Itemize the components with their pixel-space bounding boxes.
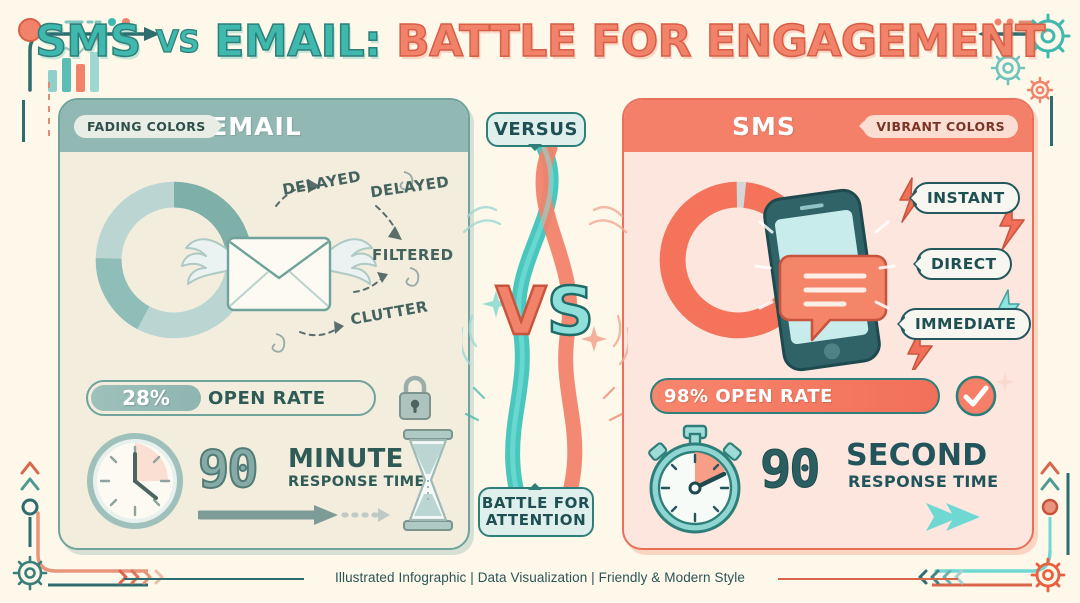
decor-dash-left <box>48 82 50 142</box>
vs-letter-v: V <box>496 273 547 350</box>
decor-line-right-top <box>1050 96 1053 146</box>
sms-panel-header: SMS VIBRANT COLORS <box>624 100 1032 152</box>
email-response-digits: 90 <box>198 440 257 500</box>
email-open-rate-bar: 28% OPEN RATE <box>86 380 376 416</box>
email-panel-header: FADING COLORS EMAIL <box>60 100 468 152</box>
email-slow-arrow <box>198 502 396 528</box>
sms-open-rate-percent: 98% <box>664 386 709 407</box>
battle-line-2: ATTENTION <box>480 512 592 529</box>
center-versus-column: VERSUS VS BATTLE FOR ATTENTION <box>478 98 612 558</box>
padlock-icon <box>394 374 436 422</box>
vs-letters: VS <box>478 273 612 350</box>
check-circle-icon <box>954 374 998 418</box>
email-open-rate-fill: 28% <box>91 385 201 411</box>
versus-bubble: VERSUS <box>486 112 586 147</box>
decor-line-left-top <box>22 100 25 142</box>
email-label-filtered: FILTERED <box>372 246 454 264</box>
battle-line-1: BATTLE FOR <box>480 495 592 512</box>
email-open-rate-percent: 28% <box>122 386 170 410</box>
sms-response-digits: 90 <box>760 440 819 500</box>
sms-bubble-immediate: IMMEDIATE <box>900 308 1031 340</box>
sms-open-rate-text: 98% OPEN RATE <box>664 386 833 407</box>
title-part-vs: VS <box>156 25 200 60</box>
sms-vibrant-colors-tag: VIBRANT COLORS <box>863 115 1018 138</box>
email-fading-colors-tag: FADING COLORS <box>74 115 219 138</box>
email-response-unit: MINUTE <box>288 444 404 474</box>
footer-caption: Illustrated Infographic | Data Visualiza… <box>0 570 1080 585</box>
email-open-rate-row: 28% OPEN RATE <box>86 374 436 422</box>
email-open-rate-label: OPEN RATE <box>208 388 326 409</box>
smartphone-message-icon <box>752 180 902 380</box>
sms-bubble-direct: DIRECT <box>916 248 1012 280</box>
sparkle-icon <box>994 370 1016 396</box>
hourglass-icon <box>400 428 456 534</box>
vs-letter-s: S <box>547 273 595 350</box>
infographic-canvas: SMS VS EMAIL: BATTLE FOR ENGAGEMENT FADI… <box>0 0 1080 603</box>
sms-open-rate-label: OPEN RATE <box>715 386 833 407</box>
sms-bubble-instant: INSTANT <box>912 182 1020 214</box>
sms-open-rate-row: 98% OPEN RATE <box>650 374 1016 418</box>
title-part-sms: SMS <box>35 16 141 67</box>
battle-for-attention-bubble: BATTLE FOR ATTENTION <box>478 487 594 537</box>
page-title: SMS VS EMAIL: BATTLE FOR ENGAGEMENT <box>0 16 1080 67</box>
title-part-email: EMAIL: <box>214 16 381 67</box>
title-part-battle: BATTLE FOR ENGAGEMENT <box>396 16 1045 67</box>
stopwatch-icon <box>640 424 752 536</box>
sms-open-rate-bar: 98% OPEN RATE <box>650 378 940 414</box>
